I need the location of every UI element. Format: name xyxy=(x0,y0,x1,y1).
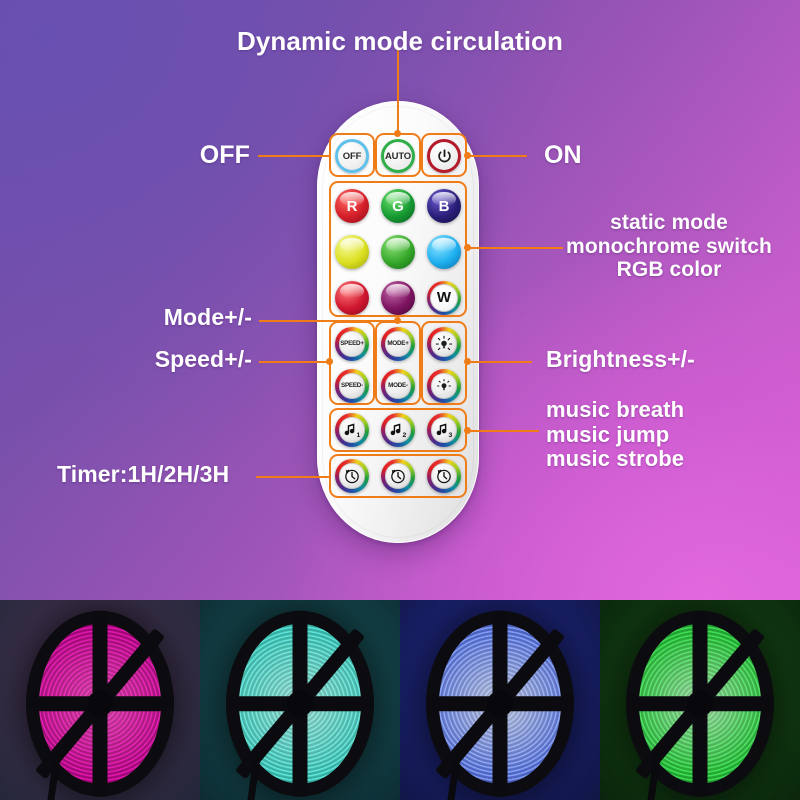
mode-up-button[interactable]: MODE+ xyxy=(381,327,415,361)
label-timer: Timer:1H/2H/3H xyxy=(57,462,229,488)
leader-dot-mode xyxy=(394,317,401,324)
product-infographic: OFF AUTO R G B W SPEED+ MODE+ xyxy=(0,0,800,800)
timer-2h-button[interactable] xyxy=(381,459,415,493)
brightness-down-icon xyxy=(435,377,453,395)
leader-dot-on xyxy=(464,152,471,159)
red-button[interactable]: R xyxy=(335,189,369,223)
brightness-down-button[interactable] xyxy=(427,369,461,403)
leader-line-off xyxy=(258,155,329,157)
mode-down-button[interactable]: MODE- xyxy=(381,369,415,403)
label-speed: Speed+/- xyxy=(20,347,252,373)
leader-line-on xyxy=(467,155,527,157)
svg-text:1: 1 xyxy=(356,432,360,439)
leader-dot-title xyxy=(394,130,401,137)
music-note-icon: 3 xyxy=(434,420,454,440)
led-reel xyxy=(626,611,774,797)
clock-icon xyxy=(388,466,408,486)
label-mode: Mode+/- xyxy=(30,305,252,331)
green-button[interactable]: G xyxy=(381,189,415,223)
leader-dot-speed xyxy=(326,358,333,365)
power-button[interactable] xyxy=(427,139,461,173)
led-reel xyxy=(226,611,374,797)
cyan-button[interactable] xyxy=(427,235,461,269)
led-photo-strip xyxy=(0,600,800,800)
svg-text:2: 2 xyxy=(402,432,406,439)
timer-3h-button[interactable] xyxy=(427,459,461,493)
leader-dot-static xyxy=(464,244,471,251)
white-button-label: W xyxy=(437,289,451,306)
crimson-button[interactable] xyxy=(335,281,369,315)
led-photo-blue xyxy=(400,600,600,800)
led-reel xyxy=(426,611,574,797)
speed-up-label: SPEED+ xyxy=(340,340,364,347)
music-3-button[interactable]: 3 xyxy=(427,413,461,447)
led-photo-green xyxy=(600,600,800,800)
timer-1h-button[interactable] xyxy=(335,459,369,493)
leader-dot-music xyxy=(464,427,471,434)
red-button-label: R xyxy=(347,199,358,214)
blue-button-label: B xyxy=(439,199,450,214)
clock-icon xyxy=(434,466,454,486)
music-note-icon: 1 xyxy=(342,420,362,440)
label-brightness: Brightness+/- xyxy=(546,347,695,373)
speed-down-label: SPEED- xyxy=(341,382,363,389)
yellow-button[interactable] xyxy=(335,235,369,269)
label-music: music breath music jump music strobe xyxy=(546,398,684,472)
blue-button[interactable]: B xyxy=(427,189,461,223)
leader-line-music xyxy=(467,430,539,432)
leader-line-mode xyxy=(259,320,398,322)
leader-dot-brightness xyxy=(464,358,471,365)
mode-down-label: MODE- xyxy=(388,382,408,389)
white-button[interactable]: W xyxy=(427,281,461,315)
leader-line-title xyxy=(397,48,399,133)
label-on: ON xyxy=(544,141,582,169)
label-static-mode: static mode monochrome switch RGB color xyxy=(538,211,800,282)
music-note-icon: 2 xyxy=(388,420,408,440)
lightgreen-button[interactable] xyxy=(381,235,415,269)
mode-up-label: MODE+ xyxy=(387,340,408,347)
leader-line-brightness xyxy=(467,361,532,363)
music-2-button[interactable]: 2 xyxy=(381,413,415,447)
power-icon xyxy=(436,148,453,165)
auto-button[interactable]: AUTO xyxy=(381,139,415,173)
music-1-button[interactable]: 1 xyxy=(335,413,369,447)
led-photo-pink xyxy=(0,600,200,800)
led-reel xyxy=(26,611,174,797)
auto-button-label: AUTO xyxy=(385,151,411,162)
led-photo-cyan xyxy=(200,600,400,800)
off-button[interactable]: OFF xyxy=(335,139,369,173)
speed-down-button[interactable]: SPEED- xyxy=(335,369,369,403)
svg-text:3: 3 xyxy=(448,432,452,439)
brightness-up-button[interactable] xyxy=(427,327,461,361)
label-off: OFF xyxy=(120,141,250,169)
purple-button[interactable] xyxy=(381,281,415,315)
speed-up-button[interactable]: SPEED+ xyxy=(335,327,369,361)
brightness-up-icon xyxy=(435,335,453,353)
leader-line-timer xyxy=(256,476,329,478)
clock-icon xyxy=(342,466,362,486)
leader-line-speed xyxy=(259,361,332,363)
label-dynamic-mode: Dynamic mode circulation xyxy=(0,27,800,56)
green-button-label: G xyxy=(392,199,404,214)
off-button-label: OFF xyxy=(343,151,361,162)
